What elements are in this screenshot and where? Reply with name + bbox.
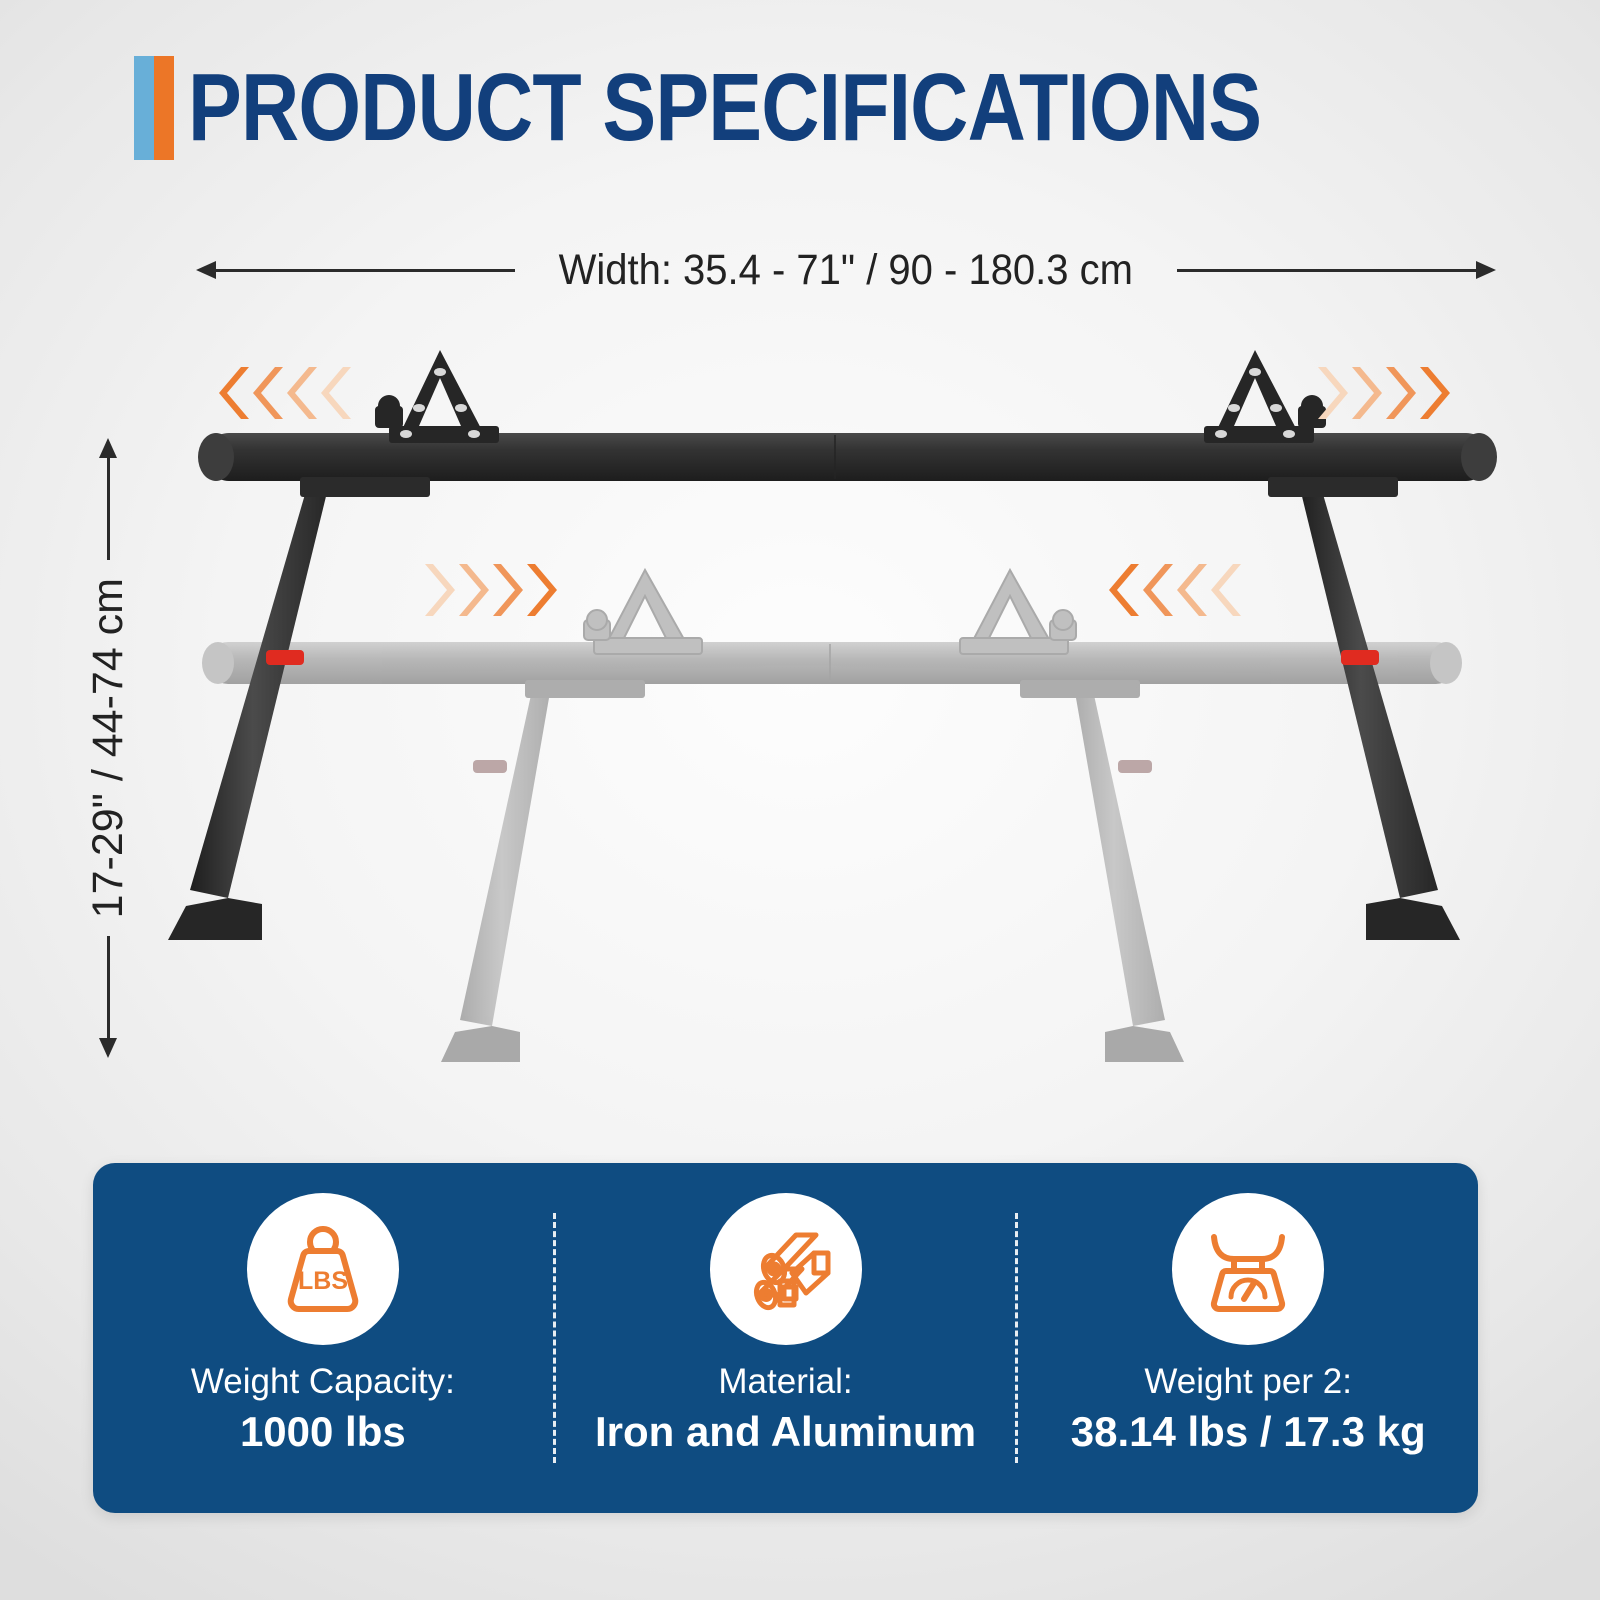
spec-label: Weight per 2: [1144,1363,1352,1402]
leg-left [168,477,330,940]
adjustment-ring-left [266,650,304,665]
ghost-rack [202,570,1462,1062]
chevron-right-icon [1420,365,1454,421]
leg-right [1298,477,1460,940]
weight-lbs-icon: LBS [271,1217,375,1321]
mount-pad-left [300,477,430,497]
chevron-left-icon [283,365,317,421]
chevron-left-icon [215,365,249,421]
load-stop-left [375,350,499,443]
spec-value: 38.14 lbs / 17.3 kg [1071,1408,1426,1456]
spec-label: Weight Capacity: [191,1363,455,1402]
chevron-right-icon [493,562,527,618]
product-illustration [0,320,1600,1080]
mount-pad-right [1268,477,1398,497]
page-title: PRODUCT SPECIFICATIONS [188,60,1261,156]
weighing-scale-icon [1196,1217,1300,1321]
chevron-right-icon [527,562,561,618]
chevron-right-icon [425,562,459,618]
load-stop-right [1204,350,1326,443]
spec-value: Iron and Aluminum [595,1408,976,1456]
accent-bar-blue [134,56,154,160]
chevron-right-icon [1352,365,1386,421]
chevron-left-icon [1139,562,1173,618]
arrow-left-icon [196,261,216,279]
width-dimension: Width: 35.4 - 71" / 90 - 180.3 cm [196,240,1496,300]
dimension-line-left [216,269,515,272]
accent-bar-orange [154,56,174,160]
spec-icon-badge [710,1193,862,1345]
title-accent-mark [134,56,174,160]
chevron-left-icon [1105,562,1139,618]
top-right-chevrons [1318,365,1454,421]
spec-value: 1000 lbs [240,1408,406,1456]
ghost-leg-left [441,672,553,1062]
chevron-right-icon [1318,365,1352,421]
adjustment-ring-right [1341,650,1379,665]
width-dimension-label: Width: 35.4 - 71" / 90 - 180.3 cm [538,246,1153,295]
ghost-load-stop-right [960,570,1076,654]
chevron-left-icon [317,365,351,421]
specifications-panel: LBS Weight Capacity: 1000 lbs [93,1163,1478,1513]
top-left-chevrons [215,365,351,421]
svg-text:LBS: LBS [298,1267,348,1295]
spec-label: Material: [718,1363,852,1402]
page-header: PRODUCT SPECIFICATIONS [0,48,1600,168]
chevron-left-icon [1207,562,1241,618]
mid-right-chevrons [1105,562,1241,618]
spec-icon-badge [1172,1193,1324,1345]
metal-stock-icon [734,1217,838,1321]
spec-icon-badge: LBS [247,1193,399,1345]
spec-item-weight-per-2: Weight per 2: 38.14 lbs / 17.3 kg [1018,1163,1478,1513]
ghost-load-stop-left [584,570,702,654]
chevron-right-icon [1386,365,1420,421]
ghost-leg-right [1072,672,1184,1062]
dimension-line-right [1177,269,1476,272]
spec-item-material: Material: Iron and Aluminum [556,1163,1016,1513]
chevron-right-icon [459,562,493,618]
spec-item-weight-capacity: LBS Weight Capacity: 1000 lbs [93,1163,553,1513]
mid-left-chevrons [425,562,561,618]
chevron-left-icon [249,365,283,421]
arrow-right-icon [1476,261,1496,279]
chevron-left-icon [1173,562,1207,618]
